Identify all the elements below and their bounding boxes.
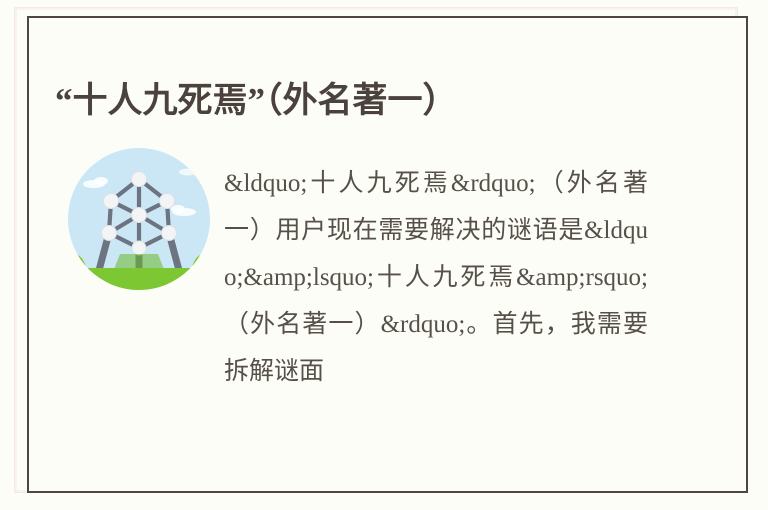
article-body: &ldquo;十人九死焉&rdquo;（外名著一）用户现在需要解决的谜语是&ld… [224, 160, 648, 395]
article-page: “十人九死焉”（外名著一） [0, 0, 768, 510]
atomium-monument-illustration [68, 148, 210, 290]
page-title: “十人九死焉”（外名著一） [55, 79, 715, 123]
